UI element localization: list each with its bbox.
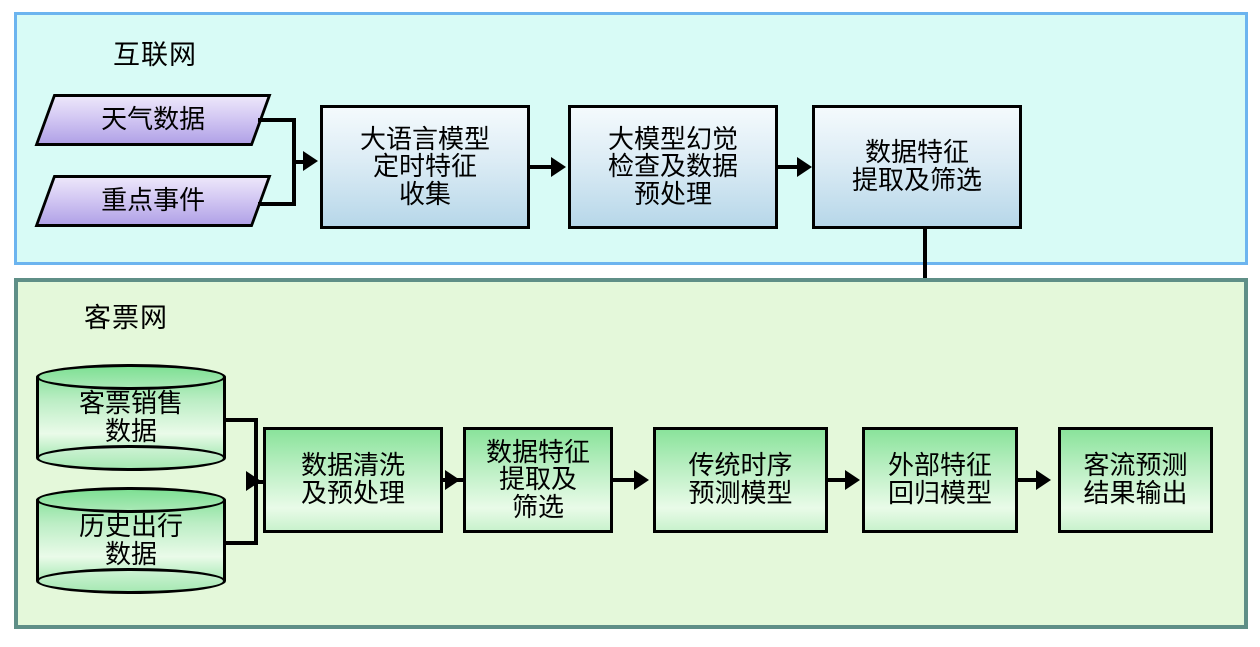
process-passenger-flow-forecast-output[interactable]: 客流预测 结果输出	[1058, 427, 1213, 533]
source-weather-data-label: 天气数据	[101, 106, 205, 134]
arrowhead-to-forecast-output	[1036, 470, 1051, 490]
arrowhead-to-llm-collect	[303, 151, 318, 171]
datastore-historical-travel-label: 历史出行 数据	[79, 513, 183, 568]
process-internet-feature-extraction-label: 数据特征 提取及筛选	[852, 139, 982, 194]
process-hallucination-check-preprocess-label: 大模型幻觉 检查及数据 预处理	[608, 126, 738, 209]
process-llm-timed-feature-collection-label: 大语言模型 定时特征 收集	[360, 126, 490, 209]
arrowhead-to-data-cleaning	[246, 471, 261, 491]
process-traditional-timeseries-model-label: 传统时序 预测模型	[688, 452, 792, 507]
connector-events-stub	[258, 202, 296, 206]
process-llm-timed-feature-collection[interactable]: 大语言模型 定时特征 收集	[320, 105, 530, 229]
cylinder-top-cap	[36, 487, 226, 513]
cylinder-top-cap	[36, 364, 226, 390]
process-data-cleaning-preprocess-label: 数据清洗 及预处理	[301, 452, 405, 507]
datastore-ticket-sales[interactable]: 客票销售 数据	[36, 364, 226, 471]
process-internet-feature-extraction[interactable]: 数据特征 提取及筛选	[812, 105, 1022, 229]
datastore-historical-travel[interactable]: 历史出行 数据	[36, 487, 226, 594]
arrowhead-to-timeseries-model	[634, 470, 649, 490]
process-ticket-feature-extraction[interactable]: 数据特征 提取及 筛选	[463, 427, 613, 533]
process-traditional-timeseries-model[interactable]: 传统时序 预测模型	[653, 427, 828, 533]
process-data-cleaning-preprocess[interactable]: 数据清洗 及预处理	[263, 427, 443, 533]
connector-historical-travel-stub	[222, 541, 258, 545]
source-weather-data[interactable]: 天气数据	[35, 94, 272, 146]
panel-ticket-title: 客票网	[84, 296, 168, 335]
cylinder-bottom-cap	[36, 445, 226, 471]
source-key-events-label: 重点事件	[101, 187, 205, 215]
process-external-feature-regression-label: 外部特征 回归模型	[888, 452, 992, 507]
cylinder-bottom-cap	[36, 568, 226, 594]
arrowhead-to-internet-feature-extraction	[797, 157, 812, 177]
source-key-events[interactable]: 重点事件	[35, 175, 272, 227]
process-hallucination-check-preprocess[interactable]: 大模型幻觉 检查及数据 预处理	[568, 105, 778, 229]
process-ticket-feature-extraction-label: 数据特征 提取及 筛选	[486, 439, 590, 522]
arrowhead-to-ticket-feature-extraction	[445, 470, 460, 490]
arrowhead-to-external-regression	[845, 470, 860, 490]
panel-internet-title: 互联网	[113, 33, 197, 72]
process-external-feature-regression[interactable]: 外部特征 回归模型	[862, 427, 1018, 533]
connector-ticket-sales-stub	[222, 418, 258, 422]
arrowhead-to-hallucination-check	[551, 157, 566, 177]
process-passenger-flow-forecast-output-label: 客流预测 结果输出	[1083, 452, 1187, 507]
datastore-ticket-sales-label: 客票销售 数据	[79, 390, 183, 445]
connector-weather-stub	[258, 118, 296, 122]
diagram-canvas: 互联网 天气数据 重点事件 大语言模型 定时特征 收集 大模型幻觉 检查及数据 …	[0, 0, 1260, 647]
